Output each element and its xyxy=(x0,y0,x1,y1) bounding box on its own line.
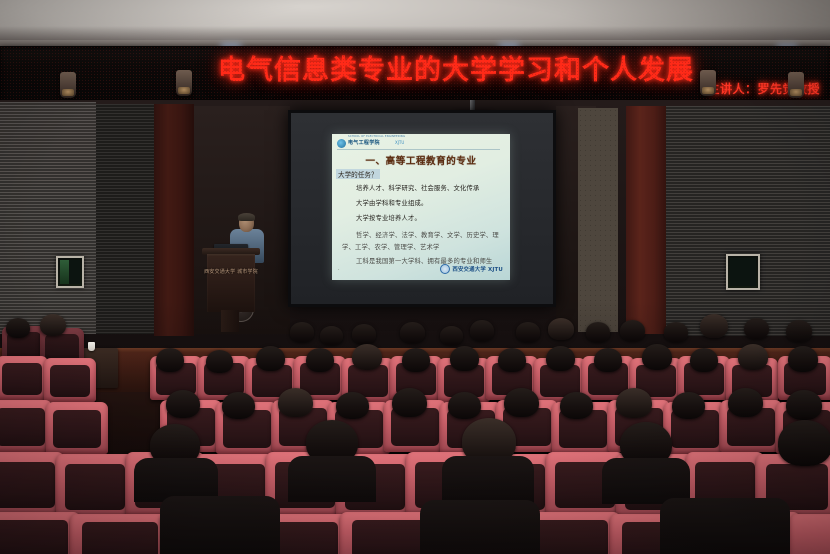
slide-logo-chinese: 电气工程学院 xyxy=(348,139,380,146)
audience-head xyxy=(306,348,334,372)
audience-head xyxy=(400,322,425,343)
audience-head xyxy=(6,318,30,338)
slide-body-line: 大学按专业培养人才。 xyxy=(356,213,421,222)
audience-head xyxy=(40,314,66,336)
stage-spotlight xyxy=(788,72,804,98)
seat xyxy=(790,514,830,554)
audience-head xyxy=(256,346,285,371)
audience-shoulders xyxy=(288,456,376,502)
audience-head xyxy=(690,348,718,372)
audience-head xyxy=(290,322,314,342)
audience-head xyxy=(548,318,574,340)
audience-head xyxy=(336,392,369,419)
slide-body-line: 大学由学科和专业组成。 xyxy=(356,198,427,207)
audience-head xyxy=(166,390,200,418)
audience-head xyxy=(450,346,479,371)
audience-head xyxy=(278,388,313,417)
seat xyxy=(44,358,96,402)
audience-head xyxy=(620,320,645,341)
audience-head xyxy=(664,322,688,342)
seat xyxy=(0,356,48,400)
audience-head xyxy=(498,348,526,372)
seat xyxy=(56,454,134,518)
audience-head xyxy=(206,350,233,373)
school-logo-icon xyxy=(337,139,346,148)
slide-disciplines-line-2: 学、工学、农学、管理学、艺术学 xyxy=(342,242,439,251)
slide-logo-sub: XJTU xyxy=(395,140,404,145)
slide-disciplines-line-1: 哲学、经济学、法学、教育学、文学、历史学、理 xyxy=(356,230,499,239)
audience-head xyxy=(738,344,768,370)
slide-body-line: 培养人才、科学研究、社会服务、文化传承 xyxy=(356,183,479,192)
xjtu-crest-icon xyxy=(440,264,450,274)
seat xyxy=(70,514,170,554)
audience-head xyxy=(778,420,830,466)
seat xyxy=(0,400,52,452)
audience-head xyxy=(560,392,593,419)
audience-head xyxy=(440,326,463,345)
audience-head xyxy=(788,346,818,372)
audience-head xyxy=(516,322,540,342)
audience-shoulders xyxy=(420,500,540,554)
audience-head xyxy=(786,320,812,342)
slide-footer-logo: 西安交通大学 XJTU xyxy=(440,264,503,274)
podium-label: 西安交通大学 城市学院 xyxy=(202,268,260,275)
audience-head xyxy=(222,392,255,419)
stage-spotlight xyxy=(60,72,76,98)
audience-shoulders xyxy=(442,456,534,504)
audience-head xyxy=(402,348,430,372)
presentation-slide: SCHOOL OF ELECTRICAL ENGINEERING 电气工程学院 … xyxy=(332,134,510,280)
audience-shoulders xyxy=(160,496,280,554)
audience-head xyxy=(616,388,652,418)
audience-head xyxy=(546,346,575,371)
audience-head xyxy=(594,348,622,372)
projection-screen: SCHOOL OF ELECTRICAL ENGINEERING 电气工程学院 … xyxy=(288,110,556,307)
audience-head xyxy=(352,344,382,370)
audience-head xyxy=(672,392,705,419)
audience-head xyxy=(392,388,427,417)
stage-spotlight xyxy=(700,70,716,96)
audience-head xyxy=(320,326,343,345)
audience-shoulders xyxy=(660,498,790,554)
audience-head xyxy=(728,388,763,417)
audience-head xyxy=(156,348,184,372)
audience-head xyxy=(786,390,822,420)
audience-head xyxy=(352,324,376,344)
booth-window-left xyxy=(56,256,84,288)
paper-cup xyxy=(88,342,95,351)
seat xyxy=(46,402,108,454)
banner-title: 电气信息类专业的大学学习和个人发展 xyxy=(196,48,716,87)
slide-title: 一、高等工程教育的专业 xyxy=(332,153,510,167)
slide-page-marker: · xyxy=(338,267,340,273)
audience-head xyxy=(470,320,494,341)
booth-window-right xyxy=(726,254,760,290)
stage-spotlight xyxy=(176,70,192,96)
lecture-hall-photo: 电气信息类专业的大学学习和个人发展 主讲人：罗先觉教授 ✦ SCHOOL OF … xyxy=(0,0,830,554)
xjtu-label: 西安交通大学 XJTU xyxy=(452,265,503,273)
wall-panel-tan-right xyxy=(578,108,618,332)
slide-logo-english: SCHOOL OF ELECTRICAL ENGINEERING xyxy=(348,135,405,138)
audience-head xyxy=(642,344,672,370)
audience-head xyxy=(744,318,769,339)
audience-head xyxy=(586,322,610,342)
audience-head xyxy=(504,388,539,417)
slide-question: 大学的任务？ xyxy=(336,169,380,179)
slide-header-logo: SCHOOL OF ELECTRICAL ENGINEERING 电气工程学院 … xyxy=(337,138,500,150)
audience-head xyxy=(700,314,728,338)
seat xyxy=(0,512,80,554)
seat xyxy=(0,452,64,516)
audience-head xyxy=(448,392,481,419)
